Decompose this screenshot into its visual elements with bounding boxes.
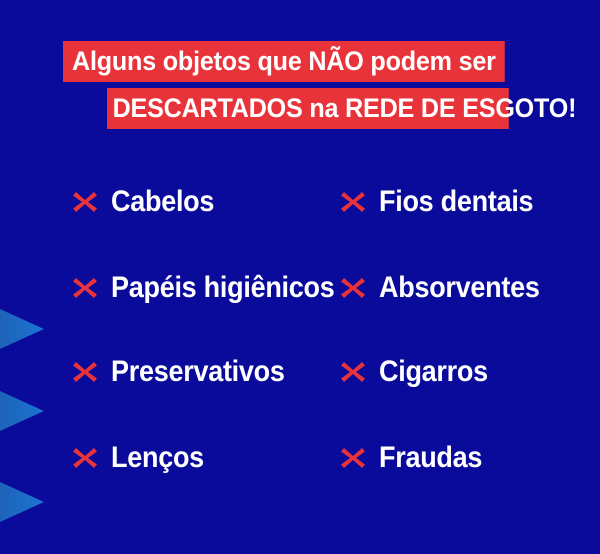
- list-item-label: Preservativos: [111, 356, 285, 388]
- list-item-label: Absorventes: [379, 272, 540, 304]
- forbidden-items-grid: Cabelos Papéis higiênicos Preservativos: [0, 168, 600, 508]
- list-item-label: Cigarros: [379, 356, 488, 388]
- red-x-icon: [72, 189, 98, 215]
- red-x-icon: [340, 275, 366, 301]
- list-item: Preservativos: [72, 350, 304, 394]
- list-item: Lenços: [72, 436, 214, 480]
- red-x-icon: [340, 189, 366, 215]
- list-item: Absorventes: [340, 266, 557, 310]
- list-item: Fraudas: [340, 436, 494, 480]
- list-item: Cigarros: [340, 350, 500, 394]
- list-item: Fios dentais: [340, 180, 550, 224]
- red-x-icon: [340, 445, 366, 471]
- red-x-icon: [340, 359, 366, 385]
- headline-line1-text: Alguns objetos que NÃO podem ser: [63, 41, 505, 81]
- red-x-icon: [72, 445, 98, 471]
- red-x-icon: [72, 359, 98, 385]
- list-item-label: Lenços: [111, 442, 204, 474]
- red-x-icon: [72, 275, 98, 301]
- list-item-label: Fraudas: [379, 442, 482, 474]
- list-item: Cabelos: [72, 180, 226, 224]
- list-item: Papéis higiênicos: [72, 266, 359, 310]
- list-item-label: Fios dentais: [379, 186, 533, 218]
- list-item-label: Papéis higiênicos: [111, 272, 334, 304]
- headline-line2-text: DESCARTADOS na REDE DE ESGOTO!: [107, 88, 509, 128]
- headline-banner-line2: DESCARTADOS na REDE DE ESGOTO!: [107, 88, 509, 129]
- headline-banner-line1: Alguns objetos que NÃO podem ser: [63, 41, 505, 82]
- poster-canvas: Alguns objetos que NÃO podem ser DESCART…: [0, 0, 600, 554]
- items-right-column: Fios dentais Absorventes Cigarros: [340, 168, 590, 508]
- items-left-column: Cabelos Papéis higiênicos Preservativos: [72, 168, 342, 508]
- list-item-label: Cabelos: [111, 186, 214, 218]
